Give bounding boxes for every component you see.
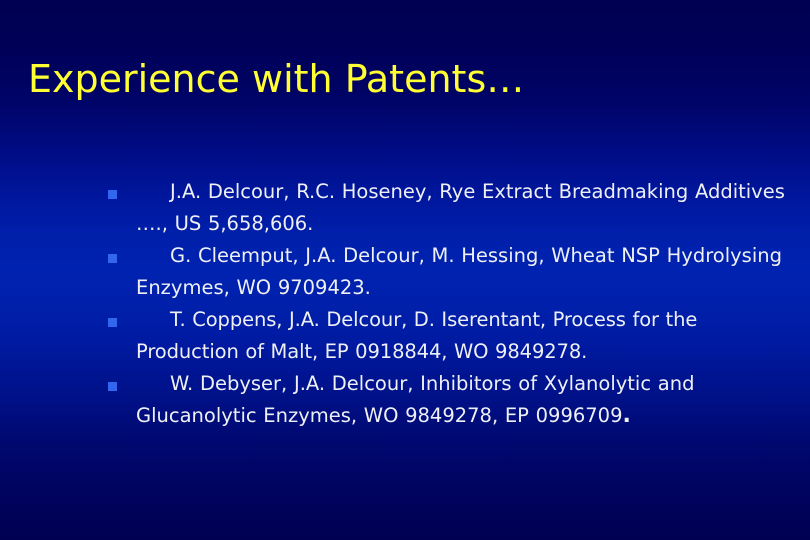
square-bullet-icon [108, 382, 117, 391]
list-item-label: T. Coppens, J.A. Delcour, D. Iserentant,… [136, 304, 786, 368]
list-item-label: J.A. Delcour, R.C. Hoseney, Rye Extract … [136, 176, 786, 240]
slide-title-placeholder: Experience with Patents… [28, 55, 782, 103]
page-title: Experience with Patents… [28, 55, 782, 103]
list-item-label: G. Cleemput, J.A. Delcour, M. Hessing, W… [136, 240, 786, 304]
list-item: J.A. Delcour, R.C. Hoseney, Rye Extract … [106, 176, 786, 240]
slide-body-placeholder: J.A. Delcour, R.C. Hoseney, Rye Extract … [106, 176, 786, 432]
list-item-terminal-period: . [623, 403, 631, 428]
square-bullet-icon [108, 318, 117, 327]
list-item: T. Coppens, J.A. Delcour, D. Iserentant,… [106, 304, 786, 368]
square-bullet-icon [108, 190, 117, 199]
list-item: G. Cleemput, J.A. Delcour, M. Hessing, W… [106, 240, 786, 304]
presentation-slide: Experience with Patents… J.A. Delcour, R… [0, 0, 810, 540]
square-bullet-icon [108, 254, 117, 263]
list-item-label: W. Debyser, J.A. Delcour, Inhibitors of … [136, 372, 694, 427]
list-item: W. Debyser, J.A. Delcour, Inhibitors of … [106, 368, 786, 432]
